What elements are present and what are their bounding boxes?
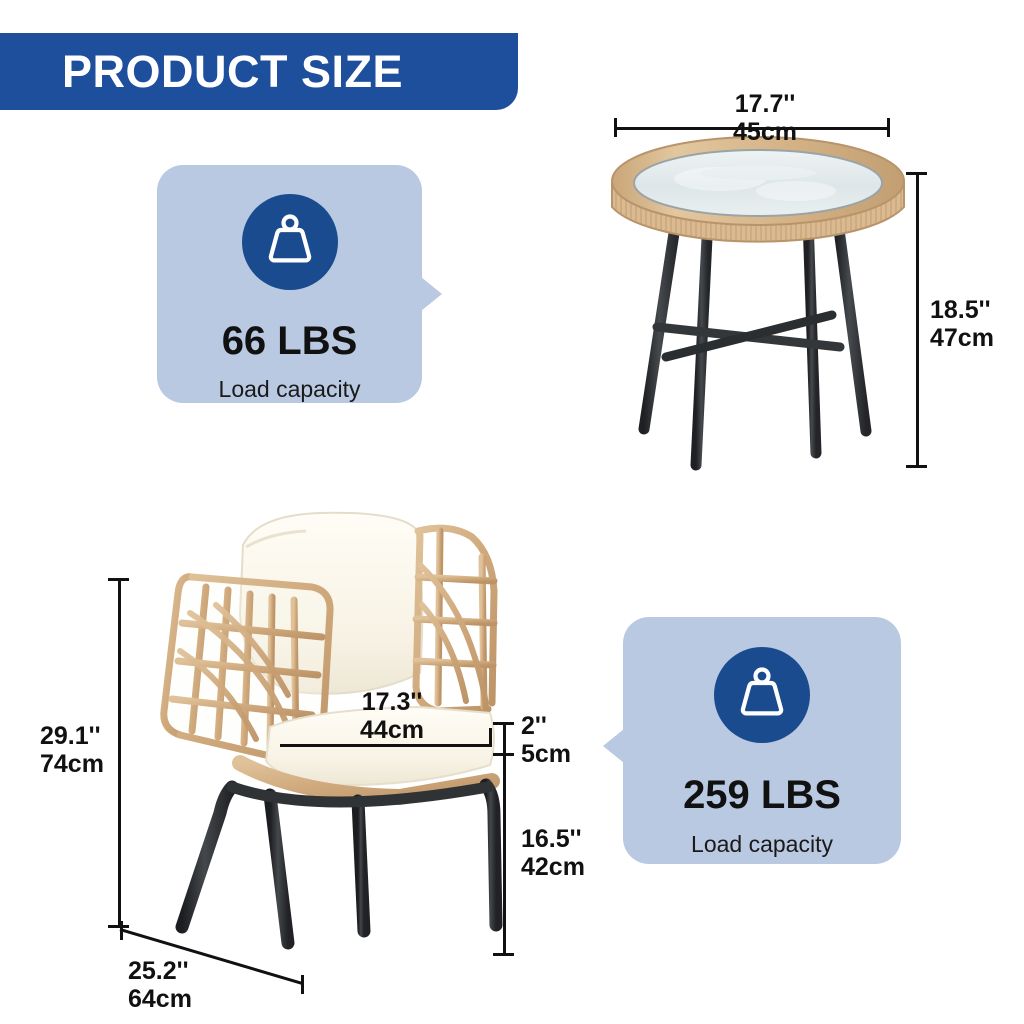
chair-height-cap-bottom <box>108 925 129 928</box>
seat-height-cap-bottom <box>493 953 514 956</box>
weight-icon-badge <box>242 194 338 290</box>
cushion-thickness-cap-top <box>493 722 514 725</box>
seat-depth-cap-right <box>489 728 492 747</box>
seat-depth-rule <box>280 744 492 747</box>
table-diameter-rule <box>614 127 890 130</box>
table-height-cap-bottom <box>906 465 927 468</box>
chair-width-cap-right <box>301 975 304 994</box>
load-capacity-value: 66 LBS <box>222 321 358 361</box>
chair-height-rule <box>118 578 121 928</box>
load-capacity-value: 259 LBS <box>683 775 841 815</box>
table-diameter-cap-left <box>614 118 617 137</box>
chair-legs <box>182 785 496 943</box>
load-capacity-label: Load capacity <box>691 833 833 856</box>
cushion-thickness-label: 2'' 5cm <box>521 712 571 768</box>
chair-height-cap-top <box>108 578 129 581</box>
chair-height-label: 29.1'' 74cm <box>40 722 104 778</box>
table-height-label: 18.5'' 47cm <box>930 296 994 352</box>
weight-icon-badge <box>714 647 810 743</box>
callout-tail <box>421 277 442 311</box>
page-header-banner: PRODUCT SIZE <box>0 33 518 110</box>
product-size-infographic: PRODUCT SIZE <box>0 0 1024 1024</box>
callout-table-load-capacity: 66 LBS Load capacity <box>157 165 422 403</box>
weight-icon <box>733 667 791 723</box>
chair-width-cap-left <box>120 921 123 940</box>
side-table-illustration <box>600 135 930 485</box>
callout-tail <box>603 729 624 763</box>
table-height-rule <box>916 172 919 468</box>
table-height-cap-top <box>906 172 927 175</box>
callout-chair-load-capacity: 259 LBS Load capacity <box>623 617 901 864</box>
load-capacity-label: Load capacity <box>219 378 361 401</box>
table-diameter-label: 17.7'' 45cm <box>690 90 840 146</box>
cushion-thickness-cap-mid <box>493 753 514 756</box>
chair-right-arm-weave <box>416 528 494 711</box>
seat-height-label: 16.5'' 42cm <box>521 825 585 881</box>
chair-width-label: 25.2'' 64cm <box>128 957 192 1013</box>
seat-depth-label: 17.3'' 44cm <box>322 688 462 744</box>
weight-icon <box>261 214 319 270</box>
cushion-thickness-rule <box>503 722 506 956</box>
table-diameter-cap-right <box>887 118 890 137</box>
page-title: PRODUCT SIZE <box>62 49 403 94</box>
